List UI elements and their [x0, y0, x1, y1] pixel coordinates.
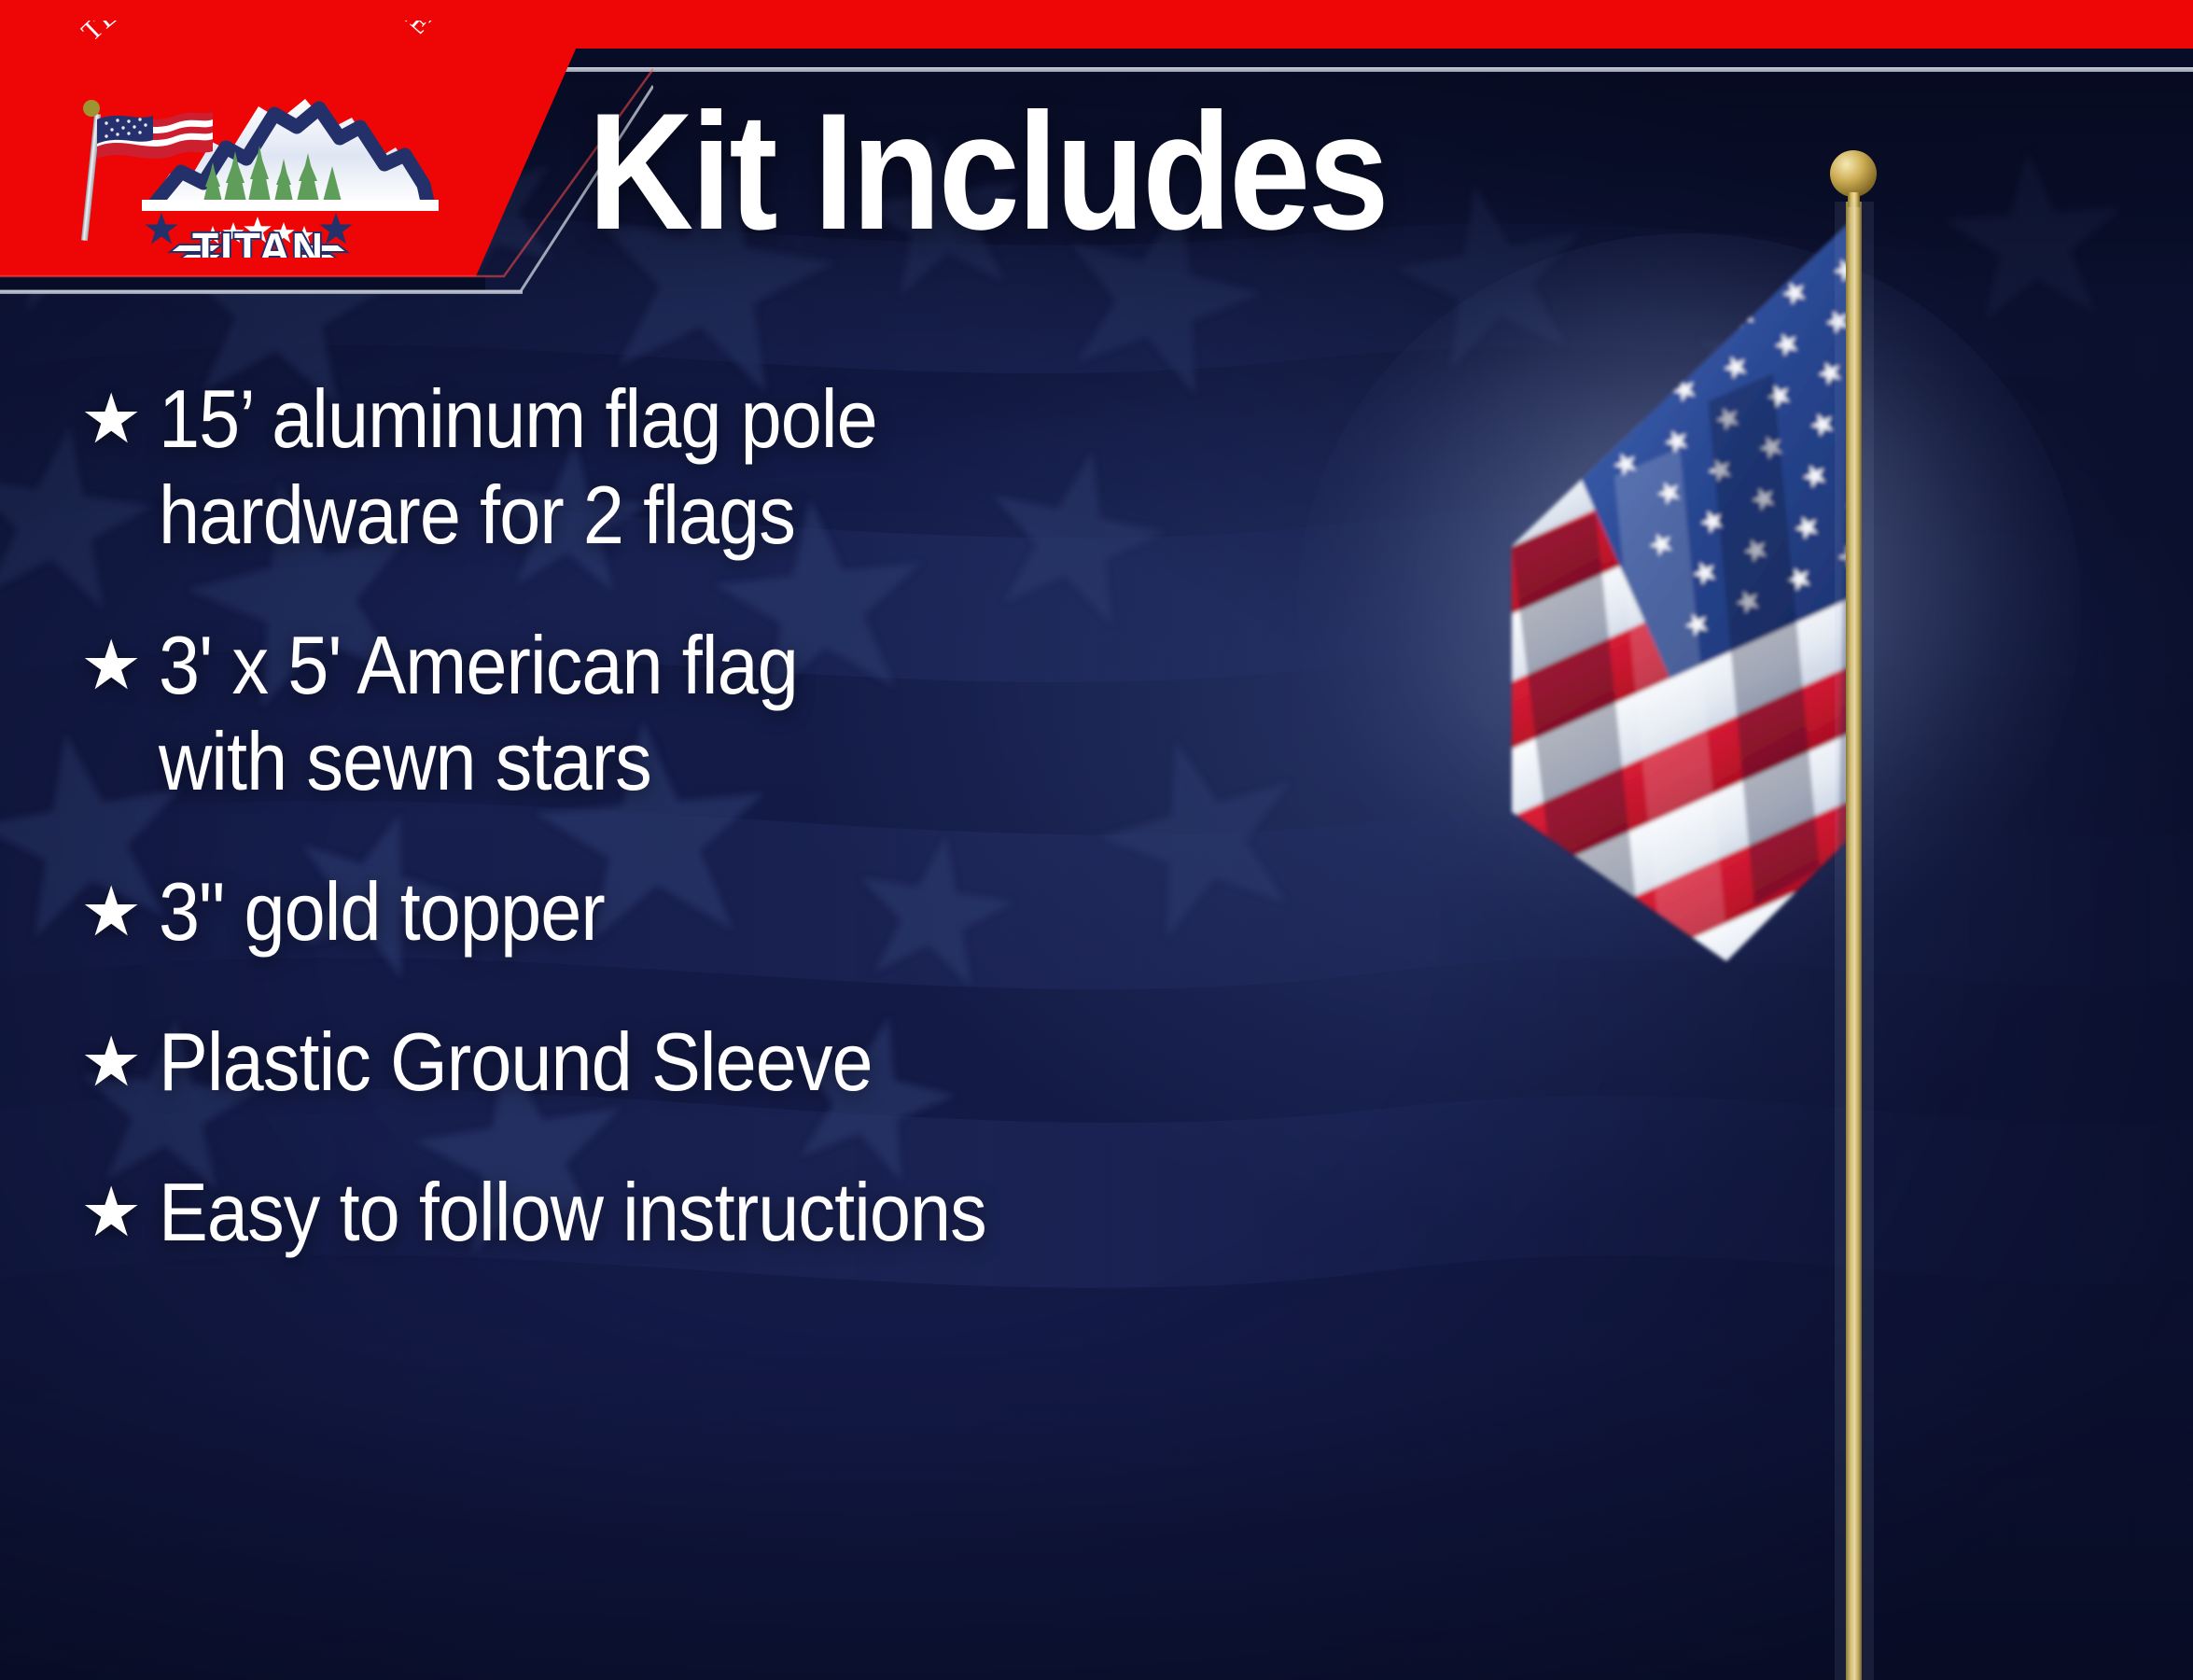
- brand-name-text: TITAN: [192, 224, 325, 258]
- list-item-label: Plastic Ground Sleeve: [159, 1015, 873, 1111]
- list-item-label: 3" gold topper: [159, 864, 605, 960]
- brand-underline-divider: [0, 290, 523, 294]
- list-item-label: 15’ aluminum flag pole hardware for 2 fl…: [159, 371, 877, 564]
- kit-includes-list: ★ 15’ aluminum flag pole hardware for 2 …: [80, 371, 1387, 1315]
- titan-logo: TELESCOPING FLAGPOLE: [39, 21, 478, 254]
- star-icon: ★: [80, 385, 159, 454]
- star-icon: ★: [80, 1178, 159, 1247]
- list-item-label: 3' x 5' American flag with sewn stars: [159, 618, 798, 810]
- list-item: ★ 3' x 5' American flag with sewn stars: [80, 618, 1387, 810]
- page-title: Kit Includes: [588, 89, 1387, 255]
- svg-text:TELESCOPING FLAGPOLE: TELESCOPING FLAGPOLE: [76, 21, 439, 47]
- list-item: ★ 15’ aluminum flag pole hardware for 2 …: [80, 371, 1387, 564]
- brand-tagline-text: TELESCOPING FLAGPOLE: [76, 21, 439, 47]
- logo-artwork: TITAN: [39, 62, 478, 258]
- star-icon: ★: [80, 1028, 159, 1097]
- star-icon: ★: [80, 877, 159, 946]
- star-icon: ★: [80, 631, 159, 700]
- list-item-label: Easy to follow instructions: [159, 1165, 986, 1261]
- brand-underline-dark-band: [0, 276, 485, 291]
- list-item: ★ Easy to follow instructions: [80, 1165, 1387, 1261]
- poster-canvas: TELESCOPING FLAGPOLE: [0, 0, 2193, 1680]
- list-item: ★ Plastic Ground Sleeve: [80, 1015, 1387, 1111]
- list-item: ★ 3" gold topper: [80, 864, 1387, 960]
